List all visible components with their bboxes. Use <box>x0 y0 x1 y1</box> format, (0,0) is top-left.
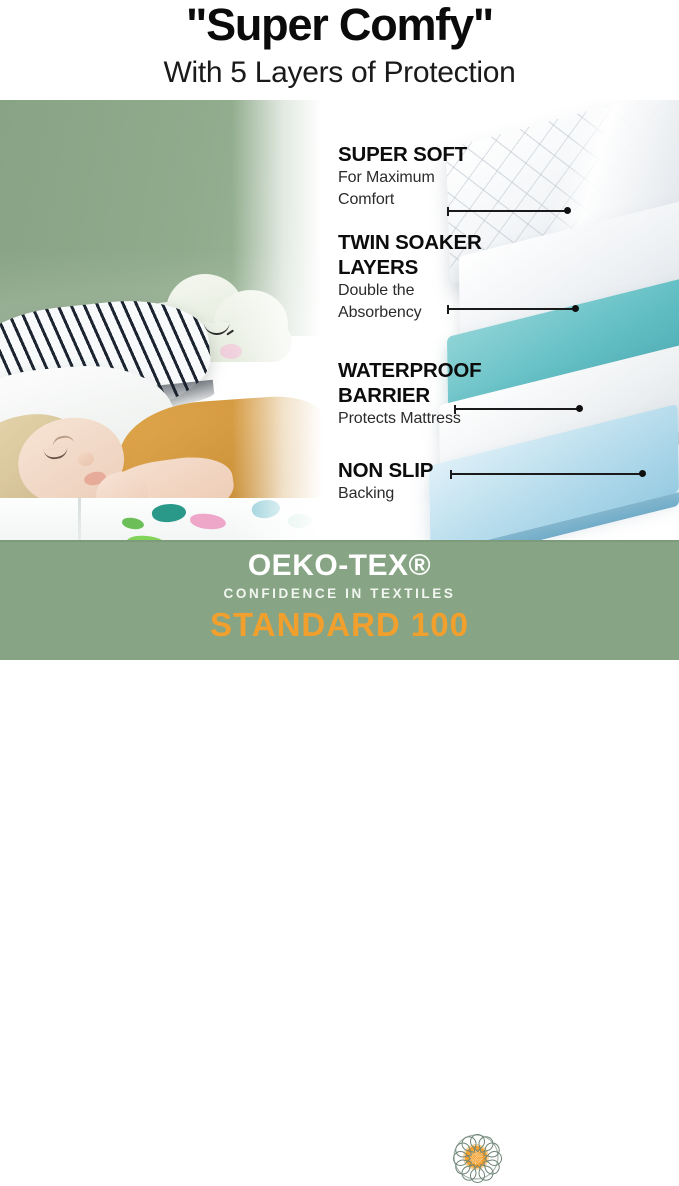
feature-super-soft: SUPER SOFT For Maximum Comfort <box>338 142 467 211</box>
oeko-tex-banner: OEKO-TEX® CONFIDENCE IN TEXTILES STANDAR… <box>0 540 679 660</box>
feature-heading: TWIN SOAKER <box>338 230 482 255</box>
page-subtitle: With 5 Layers of Protection <box>0 54 679 92</box>
oeko-tex-brand: OEKO-TEX® <box>0 547 679 585</box>
feature-subtext: Backing <box>338 483 433 505</box>
banner-top-rule <box>0 540 679 542</box>
leader-line-super-soft <box>447 210 569 212</box>
oeko-tex-standard: STANDARD 100 <box>0 603 679 647</box>
photo-fade-overlay <box>232 100 330 540</box>
sheet-fold <box>78 498 81 540</box>
feature-heading: NON SLIP <box>338 458 433 483</box>
leader-line-waterproof <box>454 408 581 410</box>
leader-line-non-slip <box>450 473 644 475</box>
feature-subtext: Absorbency <box>338 302 482 324</box>
lifestyle-photo <box>0 100 330 540</box>
main-content: SUPER SOFT For Maximum Comfort TWIN SOAK… <box>0 100 679 540</box>
header-banner: "Super Comfy" With 5 Layers of Protectio… <box>0 0 679 100</box>
feature-non-slip: NON SLIP Backing <box>338 458 433 505</box>
feature-subtext: Double the <box>338 280 482 302</box>
oeko-tex-emblem-icon <box>447 1128 505 1186</box>
feature-heading: BARRIER <box>338 383 481 408</box>
feature-heading: LAYERS <box>338 255 482 280</box>
feature-heading: WATERPROOF <box>338 358 481 383</box>
page-title: "Super Comfy" <box>0 0 679 52</box>
feature-heading: SUPER SOFT <box>338 142 467 167</box>
feature-waterproof: WATERPROOF BARRIER Protects Mattress <box>338 358 481 430</box>
feature-twin-soaker: TWIN SOAKER LAYERS Double the Absorbency <box>338 230 482 324</box>
feature-subtext: Protects Mattress <box>338 408 481 430</box>
oeko-tex-tagline: CONFIDENCE IN TEXTILES <box>0 585 679 603</box>
feature-subtext: For Maximum <box>338 167 467 189</box>
leader-line-twin-soaker <box>447 308 577 310</box>
